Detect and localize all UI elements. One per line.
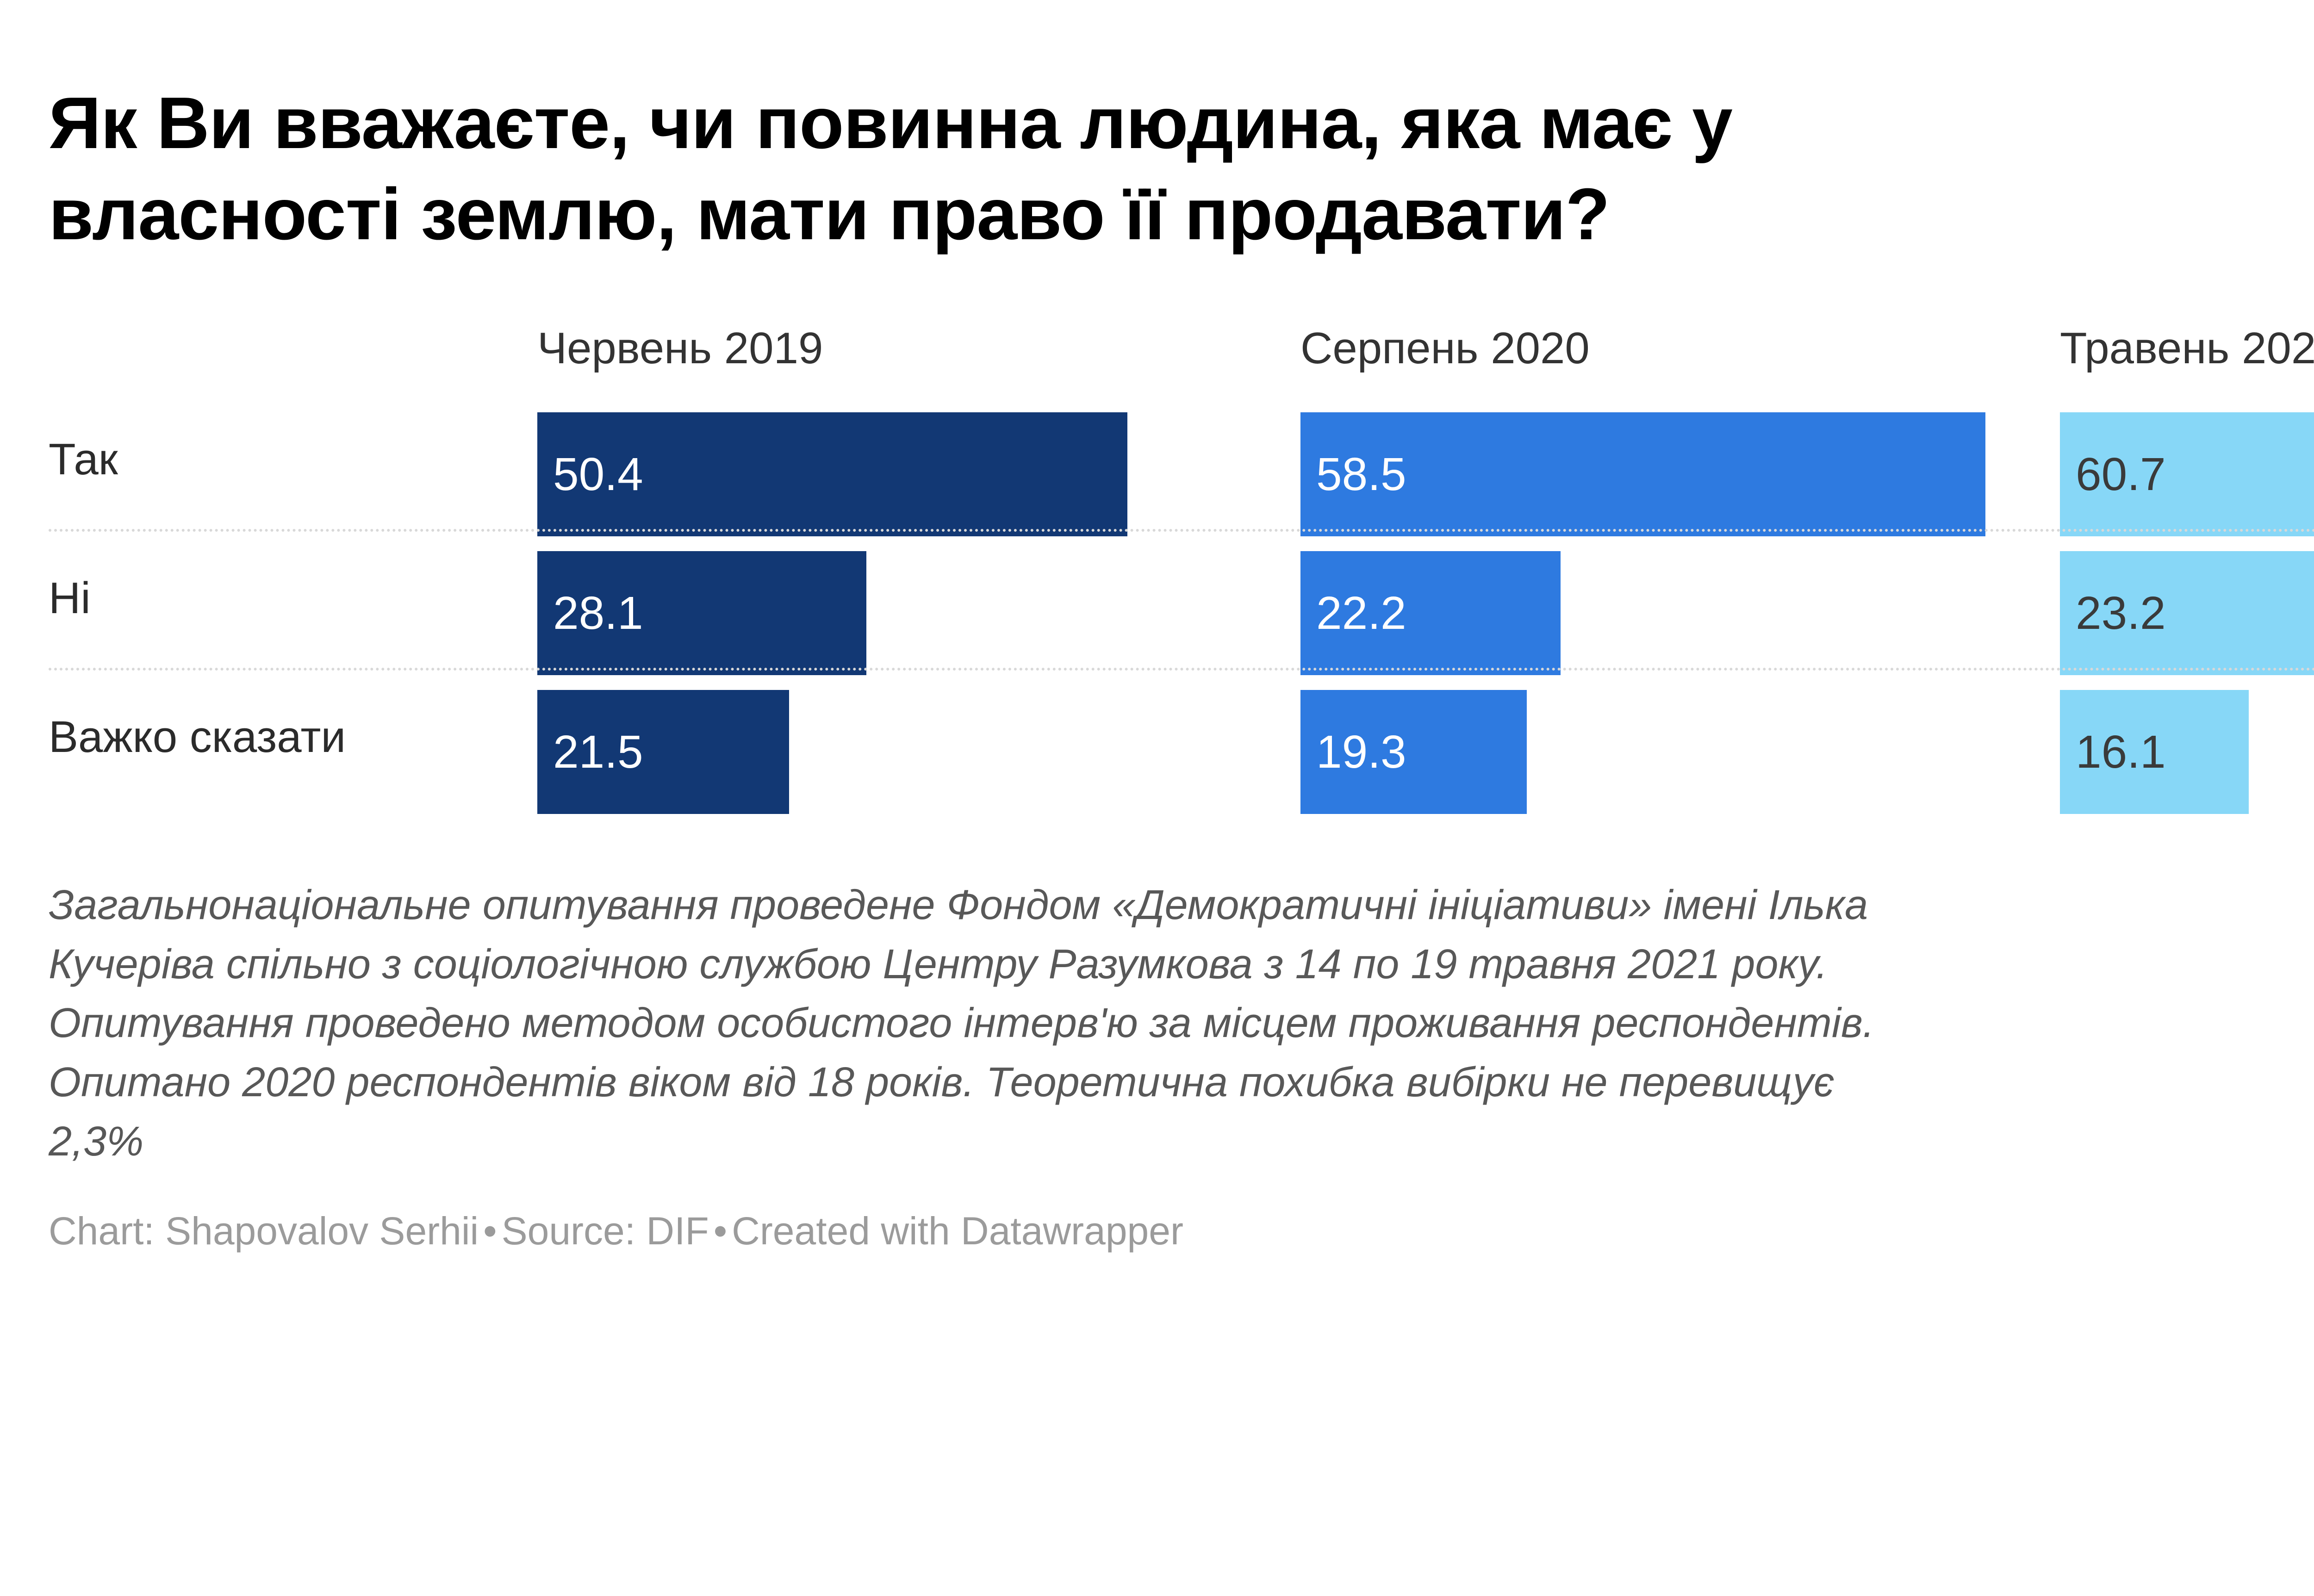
page-title: Як Ви вважаєте, чи повинна людина, яка м… — [49, 49, 2224, 261]
note-line-5: 2,3% — [49, 1112, 2314, 1172]
column-header-2019: Червень 2019 — [537, 311, 823, 385]
note-line-2: Кучеріва спільно з соціологічною службою… — [49, 935, 2314, 994]
note-line-1: Загальнонаціональне опитування проведене… — [49, 876, 2314, 935]
row-label-no: Ні — [49, 529, 91, 668]
bar-2020-yes[interactable]: 58.5 — [1300, 412, 1985, 536]
bar-value-2019-no: 28.1 — [537, 590, 643, 636]
bar-2021-hard-to-say[interactable]: 16.1 — [2060, 690, 2249, 814]
table-row: Так 50.4 58.5 60.7 — [49, 390, 2314, 529]
bar-2019-hard-to-say[interactable]: 21.5 — [537, 690, 789, 814]
row-label-yes: Так — [49, 390, 118, 529]
bar-2019-no[interactable]: 28.1 — [537, 551, 866, 675]
credit-author: Chart: Shapovalov Serhii — [49, 1209, 479, 1253]
title-line-2: власності землю, мати право її продавати… — [49, 174, 1610, 255]
bar-value-2020-yes: 58.5 — [1300, 451, 1406, 497]
chart-container: Як Ви вважаєте, чи повинна людина, яка м… — [0, 49, 2314, 1596]
bar-2020-no[interactable]: 22.2 — [1300, 551, 1561, 675]
bar-2020-hard-to-say[interactable]: 19.3 — [1300, 690, 1527, 814]
bar-2021-no[interactable]: 23.2 — [2060, 551, 2314, 675]
row-divider — [49, 529, 2314, 532]
table-row: Важко сказати 21.5 19.3 16.1 — [49, 668, 2314, 807]
credit-source: Source: DIF — [502, 1209, 709, 1253]
chart-notes: Загальнонаціональне опитування проведене… — [49, 876, 2314, 1172]
credit-created-with[interactable]: Created with Datawrapper — [732, 1209, 1183, 1253]
bar-2019-yes[interactable]: 50.4 — [537, 412, 1127, 536]
row-label-hard-to-say: Важко сказати — [49, 668, 346, 807]
note-line-3: Опитування проведено методом особистого … — [49, 994, 2314, 1053]
note-line-4: Опитано 2020 респондентів віком від 18 р… — [49, 1053, 2314, 1112]
credit-separator-icon: • — [709, 1209, 732, 1253]
credit-separator-icon: • — [479, 1209, 501, 1253]
column-header-2021: Травень 2021 — [2060, 311, 2314, 385]
bar-value-2019-hard-to-say: 21.5 — [537, 729, 643, 775]
column-header-2020: Серпень 2020 — [1300, 311, 1590, 385]
bar-rows: Так 50.4 58.5 60.7 Ні 28.1 22.2 23.2 — [49, 390, 2314, 807]
column-header-row: Червень 2019 Серпень 2020 Травень 2021 — [49, 311, 2314, 385]
bar-value-2021-yes: 60.7 — [2060, 451, 2166, 497]
table-row: Ні 28.1 22.2 23.2 — [49, 529, 2314, 668]
bar-value-2021-no: 23.2 — [2060, 590, 2166, 636]
bar-value-2020-no: 22.2 — [1300, 590, 1406, 636]
bar-2021-yes[interactable]: 60.7 — [2060, 412, 2314, 536]
title-line-1: Як Ви вважаєте, чи повинна людина, яка м… — [49, 82, 1732, 164]
chart-credit: Chart: Shapovalov Serhii•Source: DIF•Cre… — [49, 1206, 2314, 1256]
bar-value-2020-hard-to-say: 19.3 — [1300, 729, 1406, 775]
row-divider — [49, 668, 2314, 671]
bar-value-2021-hard-to-say: 16.1 — [2060, 729, 2166, 775]
bar-value-2019-yes: 50.4 — [537, 451, 643, 497]
